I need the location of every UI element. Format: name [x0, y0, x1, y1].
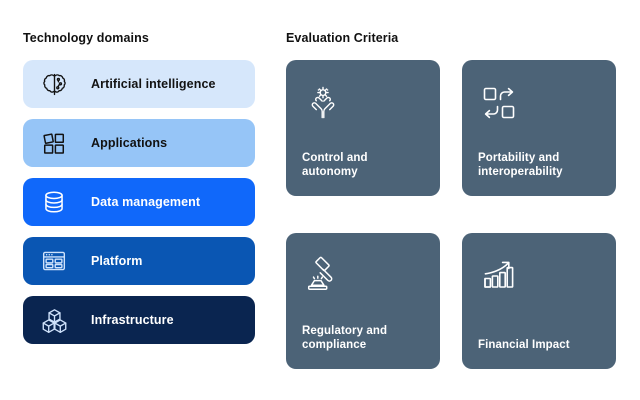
cubes-stack-icon: [39, 305, 69, 335]
evaluation-criteria-grid: Control andautonomy Portability andinter…: [286, 60, 616, 369]
domain-label: Artificial intelligence: [91, 77, 216, 91]
domain-item-infrastructure[interactable]: Infrastructure: [23, 296, 255, 344]
infographic-page: Technology domains Evaluation Criteria A…: [0, 0, 640, 400]
domain-item-platform[interactable]: Platform: [23, 237, 255, 285]
domain-label: Data management: [91, 195, 200, 209]
database-icon: [39, 187, 69, 217]
domain-label: Platform: [91, 254, 143, 268]
criteria-card-label: Control andautonomy: [302, 151, 424, 180]
domain-item-artificial-intelligence[interactable]: Artificial intelligence: [23, 60, 255, 108]
criteria-card-label: Portability andinteroperability: [478, 151, 600, 180]
evaluation-criteria-heading: Evaluation Criteria: [286, 31, 398, 45]
criteria-card-label: Financial Impact: [478, 338, 600, 353]
criteria-card-label: Regulatory andcompliance: [302, 324, 424, 353]
swap-squares-icon: [478, 82, 520, 124]
domain-item-applications[interactable]: Applications: [23, 119, 255, 167]
brain-icon: [39, 69, 69, 99]
domain-item-data-management[interactable]: Data management: [23, 178, 255, 226]
technology-domains-list: Artificial intelligence Applications: [23, 60, 255, 344]
dashboard-window-icon: [39, 246, 69, 276]
criteria-card-control-and-autonomy[interactable]: Control andautonomy: [286, 60, 440, 196]
criteria-card-financial-impact[interactable]: Financial Impact: [462, 233, 616, 369]
app-tiles-icon: [39, 128, 69, 158]
criteria-card-portability-and-interoperability[interactable]: Portability andinteroperability: [462, 60, 616, 196]
gavel-icon: [302, 255, 344, 297]
hands-holding-gear-icon: [302, 82, 344, 124]
technology-domains-heading: Technology domains: [23, 31, 149, 45]
domain-label: Applications: [91, 136, 167, 150]
criteria-card-regulatory-and-compliance[interactable]: Regulatory andcompliance: [286, 233, 440, 369]
domain-label: Infrastructure: [91, 313, 174, 327]
growth-bar-chart-icon: [478, 255, 520, 297]
